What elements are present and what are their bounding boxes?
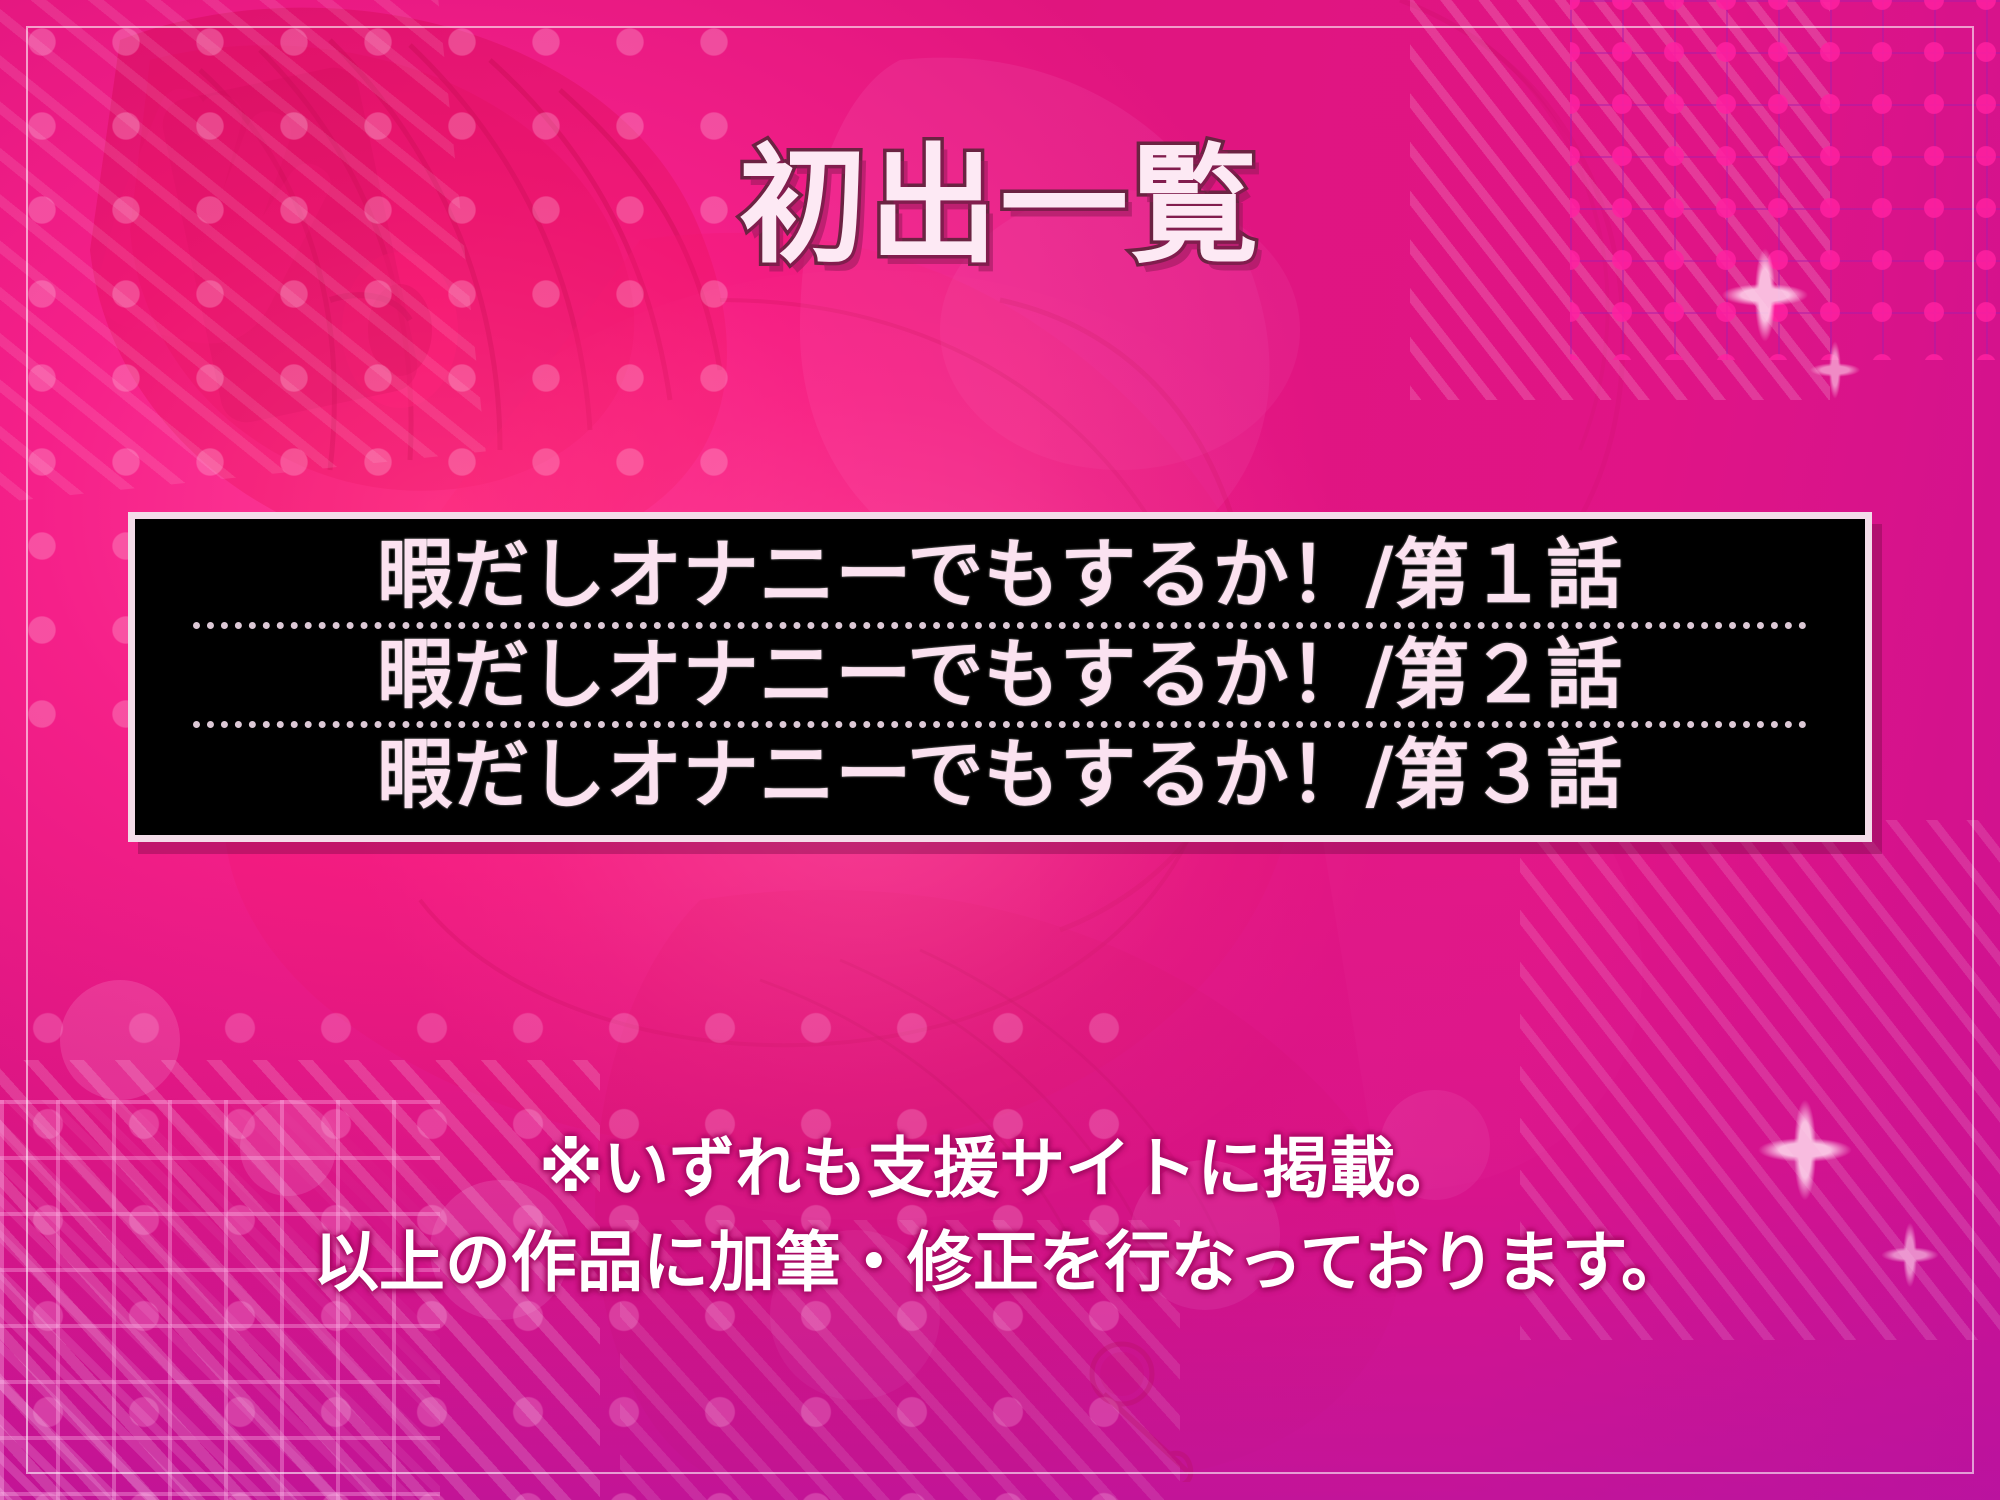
footer-note-line-1: ※いずれも支援サイトに掲載。 (0, 1122, 2000, 1216)
list-divider (193, 721, 1807, 728)
list-item: 暇だしオナニーでもするか！/第１話 (135, 529, 1865, 622)
microphone-icon (1060, 1332, 1230, 1482)
episode-list: 暇だしオナニーでもするか！/第１話 暇だしオナニーでもするか！/第２話 暇だしオ… (135, 519, 1865, 835)
footer-note: ※いずれも支援サイトに掲載。 以上の作品に加筆・修正を行なっております。 (0, 1122, 2000, 1309)
info-card: 初出一覧 暇だしオナニーでもするか！/第１話 暇だしオナニーでもするか！/第２話… (0, 0, 2000, 1500)
page-title-wrap: 初出一覧 (0, 140, 2000, 274)
sparkle-icon (1800, 330, 1870, 410)
list-item: 暇だしオナニーでもするか！/第３話 (135, 728, 1865, 821)
page-title: 初出一覧 (739, 140, 1261, 274)
list-item: 暇だしオナニーでもするか！/第２話 (135, 629, 1865, 722)
episode-list-panel: 暇だしオナニーでもするか！/第１話 暇だしオナニーでもするか！/第２話 暇だしオ… (128, 512, 1872, 842)
footer-note-line-2: 以上の作品に加筆・修正を行なっております。 (0, 1216, 2000, 1310)
list-divider (193, 622, 1807, 629)
